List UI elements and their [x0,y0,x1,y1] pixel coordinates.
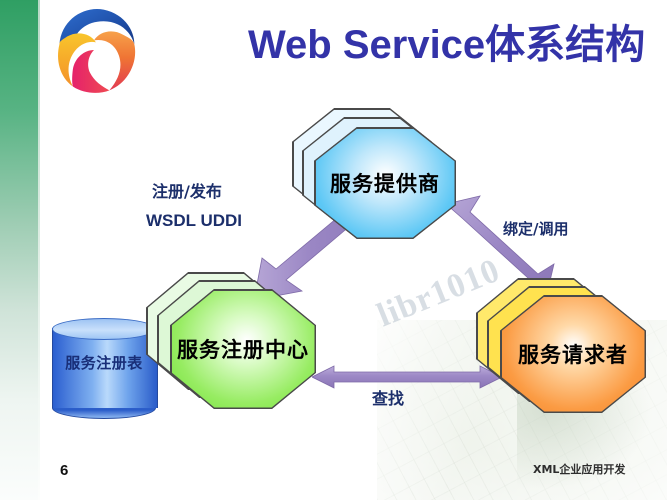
edge-label-bind-invoke: 绑定/调用 [503,218,568,239]
edge-label-wsdl-uddi: WSDL UDDI [146,211,242,231]
node-service-registry-center[interactable]: 服务注册中心 [146,272,324,412]
node-service-requester[interactable]: 服务请求者 [476,278,656,416]
requester-layer-front: 服务请求者 [500,295,646,413]
arrow-find [312,363,502,393]
edge-label-find: 查找 [372,385,404,409]
registry-label: 服务注册中心 [177,334,309,364]
slide-title: Web Service体系结构 [248,12,645,70]
circular-swirl-logo-icon [46,2,142,98]
requester-label: 服务请求者 [518,339,628,369]
edge-label-register-publish: 注册/发布 [152,178,222,202]
node-service-provider[interactable]: 服务提供商 [292,108,464,238]
cylinder-top-ellipse [52,318,156,340]
slide-canvas: libr1010 [0,0,667,500]
page-number: 6 [60,462,68,479]
footer-note: XML企业应用开发 [533,461,625,477]
service-registry-database-cylinder[interactable]: 服务注册表 [52,318,156,418]
left-accent-stripe-edge [38,0,40,500]
left-accent-stripe [0,0,38,500]
cylinder-label: 服务注册表 [52,352,156,373]
provider-label: 服务提供商 [330,168,440,198]
